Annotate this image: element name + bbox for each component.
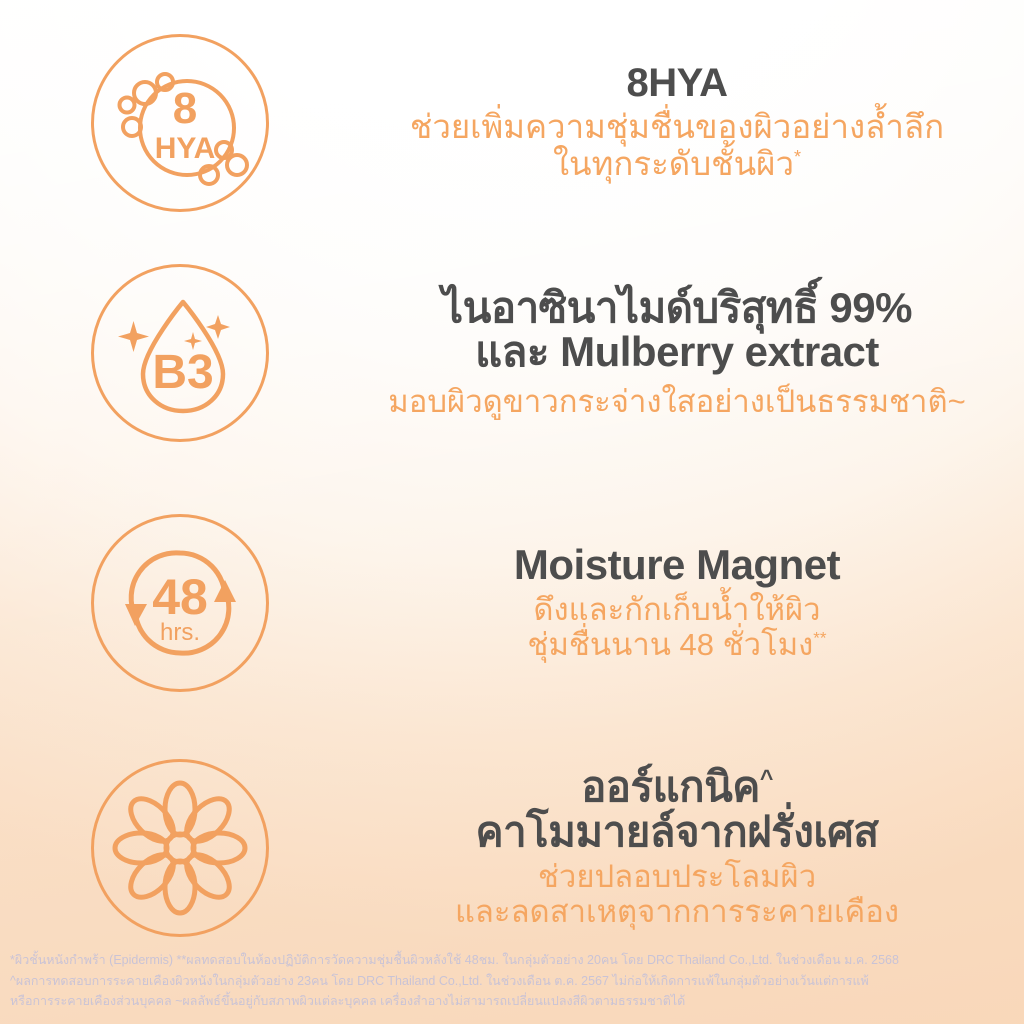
footnote-line-3: หรือการระคายเคืองส่วนบุคคล ~ผลลัพธ์ขึ้นอ… bbox=[10, 991, 1014, 1011]
feature-headline: 8HYA bbox=[360, 62, 994, 104]
8hya-bubbles-icon: 8 HYA bbox=[91, 34, 269, 212]
promo-page: 8 HYA 8HYA ช่วยเพิ่มความชุ่มชื่นของผิวอย… bbox=[0, 0, 1024, 1024]
footnote-marker: * bbox=[794, 147, 801, 167]
feature-block-8hya: 8 HYA 8HYA ช่วยเพิ่มความชุ่มชื่นของผิวอย… bbox=[0, 20, 1024, 225]
svg-text:B3: B3 bbox=[152, 346, 213, 399]
feature-text-col: ไนอาซินาไมด์บริสุทธิ์ 99% และ Mulberry e… bbox=[360, 286, 1024, 420]
feature-block-moisture-magnet: 48 hrs. Moisture Magnet ดึงและกักเก็บน้ำ… bbox=[0, 500, 1024, 705]
feature-icon-col: 8 HYA bbox=[0, 34, 360, 212]
feature-icon-col: 48 hrs. bbox=[0, 514, 360, 692]
svg-text:8: 8 bbox=[173, 84, 197, 133]
feature-subtext-line1: ช่วยเพิ่มความชุ่มชื่นของผิวอย่างล้ำลึก bbox=[360, 109, 994, 146]
feature-headline: ไนอาซินาไมด์บริสุทธิ์ 99% และ Mulberry e… bbox=[360, 286, 994, 375]
feature-text-col: 8HYA ช่วยเพิ่มความชุ่มชื่นของผิวอย่างล้ำ… bbox=[360, 62, 1024, 182]
footnotes-block: *ผิวชั้นหนังกำพร้า (Epidermis) **ผลทดสอบ… bbox=[10, 950, 1014, 1011]
feature-subtext: ช่วยปลอบประโลมผิว และลดสาเหตุจากการระคาย… bbox=[360, 860, 994, 929]
svg-text:48: 48 bbox=[152, 569, 208, 625]
feature-headline-line1: ออร์แกนิค^ bbox=[360, 765, 994, 810]
48-hours-cycle-icon: 48 hrs. bbox=[91, 514, 269, 692]
feature-subtext-line2: ชุ่มชื่นนาน 48 ชั่วโมง** bbox=[360, 628, 994, 663]
feature-subtext-line1: ช่วยปลอบประโลมผิว bbox=[360, 860, 994, 895]
feature-headline-line1: ไนอาซินาไมด์บริสุทธิ์ 99% bbox=[360, 286, 994, 331]
b3-droplet-icon: B3 bbox=[91, 264, 269, 442]
feature-block-chamomile: ออร์แกนิค^ คาโมมายล์จากฝรั่งเศส ช่วยปลอบ… bbox=[0, 745, 1024, 950]
feature-subtext: มอบผิวดูขาวกระจ่างใสอย่างเป็นธรรมชาติ~ bbox=[360, 385, 994, 420]
feature-subtext: ดึงและกักเก็บน้ำให้ผิว ชุ่มชื่นนาน 48 ชั… bbox=[360, 593, 994, 662]
svg-text:HYA: HYA bbox=[155, 132, 216, 165]
feature-subtext: ช่วยเพิ่มความชุ่มชื่นของผิวอย่างล้ำลึก ใ… bbox=[360, 109, 994, 183]
footnote-line-2: ^ผลการทดสอบการระคายเคืองผิวหนังในกลุ่มตั… bbox=[10, 971, 1014, 991]
footnote-marker: ^ bbox=[760, 765, 773, 791]
feature-subtext-line2: ในทุกระดับชั้นผิว* bbox=[360, 146, 994, 183]
svg-text:hrs.: hrs. bbox=[160, 619, 200, 646]
feature-text-col: Moisture Magnet ดึงและกักเก็บน้ำให้ผิว ช… bbox=[360, 543, 1024, 663]
feature-headline-line2: และ Mulberry extract bbox=[360, 330, 994, 375]
footnote-line-1: *ผิวชั้นหนังกำพร้า (Epidermis) **ผลทดสอบ… bbox=[10, 950, 1014, 970]
feature-subtext-line2: และลดสาเหตุจากการระคายเคือง bbox=[360, 895, 994, 930]
feature-headline-line2: คาโมมายล์จากฝรั่งเศส bbox=[360, 810, 994, 855]
feature-subtext-line1: มอบผิวดูขาวกระจ่างใสอย่างเป็นธรรมชาติ~ bbox=[360, 385, 994, 420]
footnote-marker: ** bbox=[813, 628, 826, 647]
feature-headline: Moisture Magnet bbox=[360, 543, 994, 588]
chamomile-flower-icon bbox=[91, 759, 269, 937]
feature-text-col: ออร์แกนิค^ คาโมมายล์จากฝรั่งเศส ช่วยปลอบ… bbox=[360, 765, 1024, 929]
feature-icon-col bbox=[0, 759, 360, 937]
features-list: 8 HYA 8HYA ช่วยเพิ่มความชุ่มชื่นของผิวอย… bbox=[0, 0, 1024, 1024]
feature-headline: ออร์แกนิค^ คาโมมายล์จากฝรั่งเศส bbox=[360, 765, 994, 854]
feature-subtext-line1: ดึงและกักเก็บน้ำให้ผิว bbox=[360, 593, 994, 628]
feature-icon-col: B3 bbox=[0, 264, 360, 442]
feature-block-niacinamide: B3 ไนอาซินาไมด์บริสุทธิ์ 99% และ Mulberr… bbox=[0, 250, 1024, 455]
